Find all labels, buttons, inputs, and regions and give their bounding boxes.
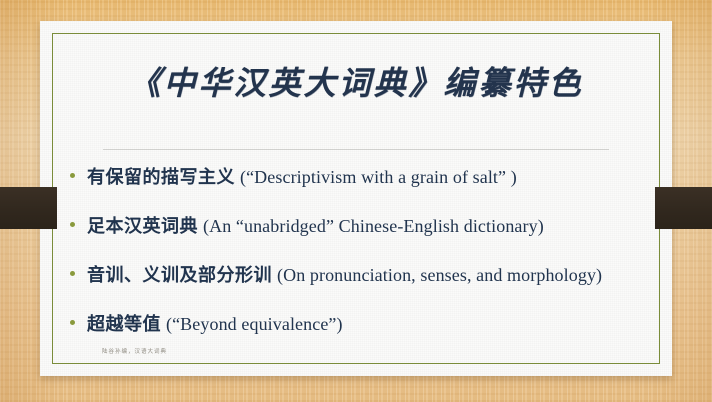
bullet-text: 有保留的描写主义(“Descriptivism with a grain of … [87, 163, 660, 189]
page-title: 《中华汉英大词典》编纂特色 [52, 63, 660, 103]
bullet-label-chinese: 足本汉英词典 [87, 216, 198, 237]
bullet-dot-icon [70, 320, 75, 325]
bullet-list: 有保留的描写主义(“Descriptivism with a grain of … [64, 163, 660, 359]
bullet-label-english: (“Descriptivism with a grain of salt” ) [240, 167, 517, 187]
slide-title-container: 《中华汉英大词典》编纂特色 [52, 63, 660, 103]
list-item: 音训、义训及部分形训(On pronunciation, senses, and… [64, 261, 660, 310]
bullet-label-chinese: 有保留的描写主义 [87, 167, 235, 188]
list-item: 有保留的描写主义(“Descriptivism with a grain of … [64, 163, 660, 212]
bullet-label-chinese: 超越等值 [87, 314, 161, 335]
decorative-tab-left [0, 187, 57, 229]
title-divider-rule [103, 149, 609, 150]
bullet-dot-icon [70, 222, 75, 227]
decorative-tab-right [655, 187, 712, 229]
bullet-dot-icon [70, 173, 75, 178]
bullet-label-english: (“Beyond equivalence”) [166, 314, 343, 334]
slide-content-panel: 《中华汉英大词典》编纂特色 有保留的描写主义(“Descriptivism wi… [40, 21, 672, 376]
bullet-label-english: (An “unabridged” Chinese-English diction… [203, 216, 544, 236]
bullet-label-english: (On pronunciation, senses, and morpholog… [277, 265, 602, 285]
list-item: 足本汉英词典(An “unabridged” Chinese-English d… [64, 212, 660, 261]
bullet-text: 超越等值(“Beyond equivalence”) [87, 310, 660, 336]
bullet-label-chinese: 音训、义训及部分形训 [87, 265, 272, 286]
bullet-text: 音训、义训及部分形训(On pronunciation, senses, and… [87, 261, 660, 287]
bullet-text: 足本汉英词典(An “unabridged” Chinese-English d… [87, 212, 660, 238]
bullet-dot-icon [70, 271, 75, 276]
presentation-slide: 《中华汉英大词典》编纂特色 有保留的描写主义(“Descriptivism wi… [0, 0, 712, 402]
footer-note: 陆谷孙编，汉语大词典 [102, 347, 167, 355]
